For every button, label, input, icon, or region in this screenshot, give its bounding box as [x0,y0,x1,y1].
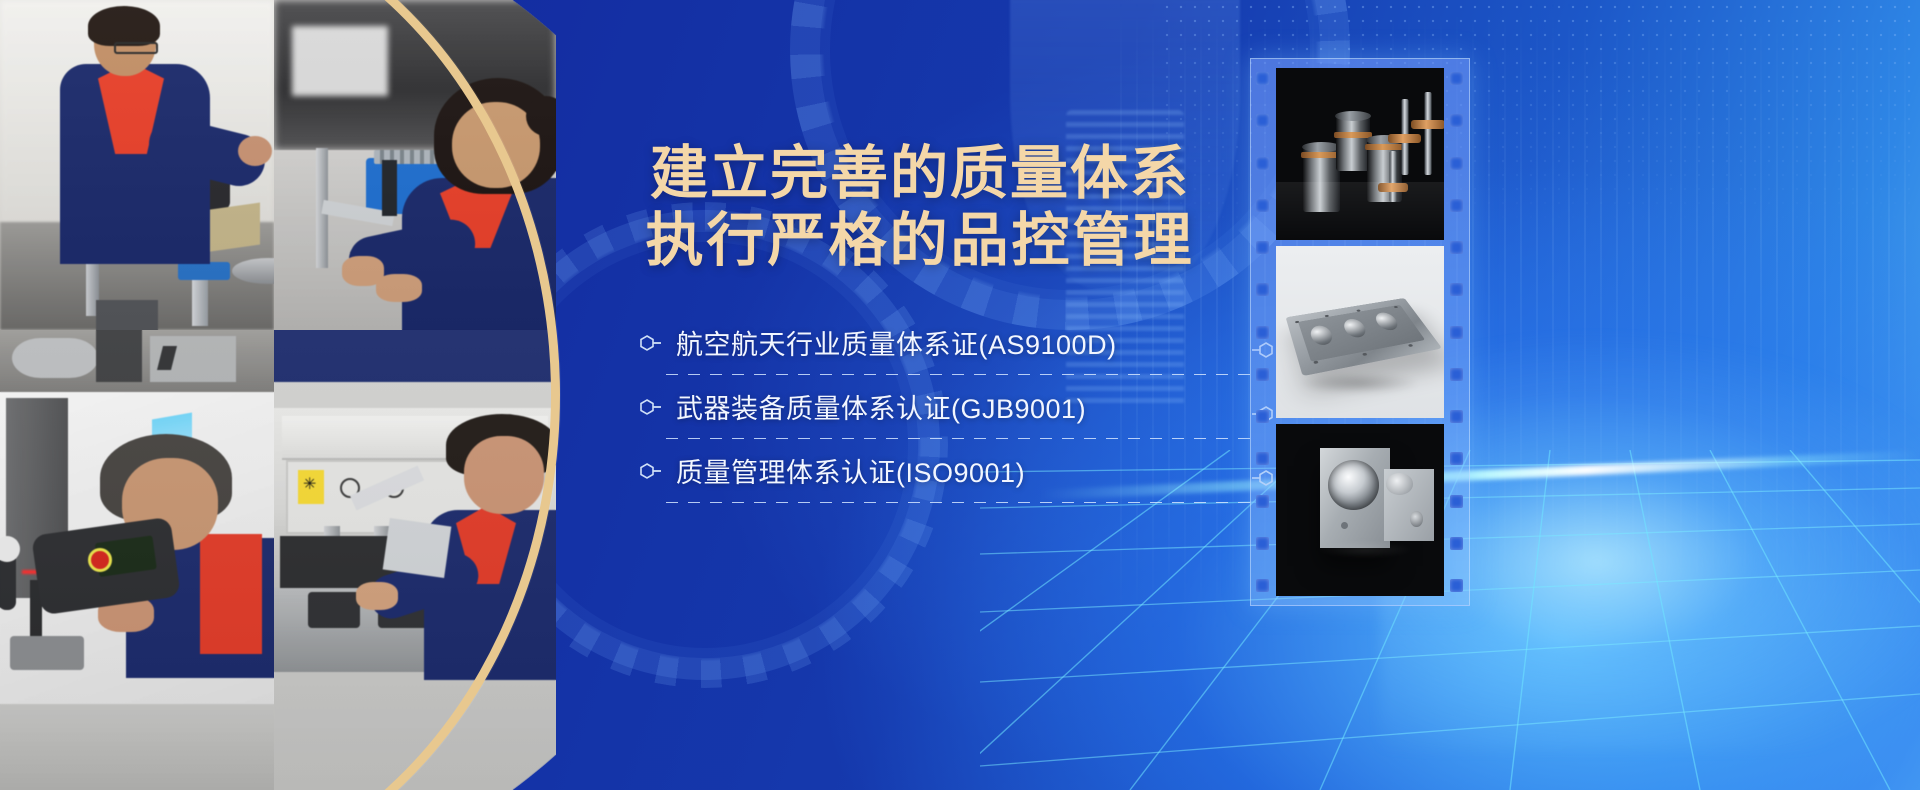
product-photo-bearing-block[interactable] [1276,424,1444,596]
hexagon-node-icon [640,334,662,352]
page-title: 建立完善的质量体系 执行严格的品控管理 [640,140,1200,275]
film-perforations-left [1256,72,1270,592]
headline-and-cert-block: 建立完善的质量体系 执行严格的品控管理 航空航天行业质量体系证(AS9100D)… [640,140,1200,503]
gold-arc-border [0,0,560,790]
product-photo-bushings[interactable] [1276,68,1444,240]
product-image-stack [1276,68,1444,596]
list-item-label: 航空航天行业质量体系证(AS9100D) [676,323,1117,362]
film-perforations-right [1450,72,1464,592]
certification-list: 航空航天行业质量体系证(AS9100D) 武器装备质量体系认证(GJB9001) [640,311,1200,503]
list-item-label: 武器装备质量体系认证(GJB9001) [676,387,1086,426]
list-item-label: 质量管理体系认证(ISO9001) [676,451,1025,490]
product-photo-housing[interactable] [1276,246,1444,418]
photo-collage-section [0,0,560,790]
list-item[interactable]: 质量管理体系认证(ISO9001) [640,439,1200,503]
headline-line-2: 执行严格的品控管理 [640,207,1200,274]
headline-line-1: 建立完善的质量体系 [640,140,1200,207]
quality-system-banner: 建立完善的质量体系 执行严格的品控管理 航空航天行业质量体系证(AS9100D)… [0,0,1920,790]
list-item[interactable]: 航空航天行业质量体系证(AS9100D) [640,311,1200,375]
list-item[interactable]: 武器装备质量体系认证(GJB9001) [640,375,1200,439]
hexagon-node-icon [640,462,662,480]
hexagon-node-icon [640,398,662,416]
dashed-divider [666,502,1260,503]
product-showcase-panel [1250,58,1470,606]
